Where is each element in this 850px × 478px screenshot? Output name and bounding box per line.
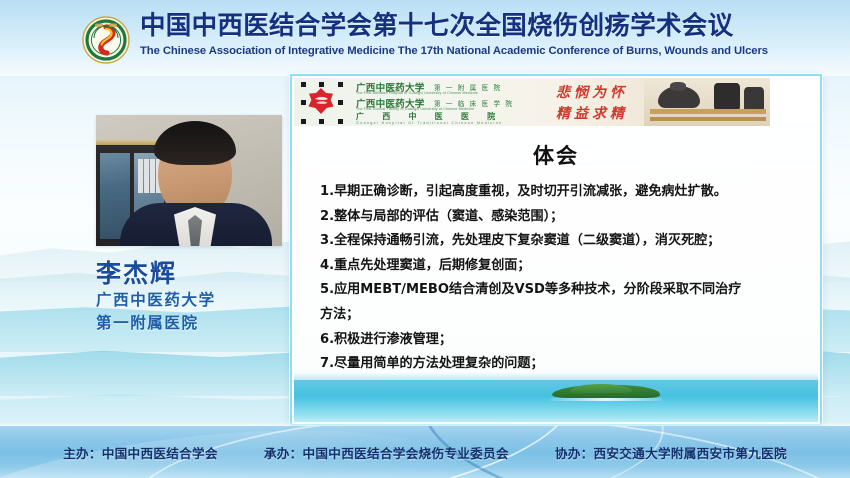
artifact-photo [644,78,770,126]
caim-emblem-icon [82,16,130,64]
speaker-org-line-2: 第一附属医院 [96,312,296,335]
slide-bullet: 6.积极进行渗液管理； [320,328,790,353]
slide-bullet: 2.整体与局部的评估（窦道、感染范围）； [320,205,790,230]
hospital-name-en-1: The First Affiliated Hospital of Guangxi… [356,91,478,95]
selection-handle-mr[interactable] [337,99,344,106]
conference-title-cn: 中国中西医结合学会第十七次全国烧伤创疡学术会议 [140,10,780,42]
calligraphy-line-1: 悲悯为怀 [556,82,628,102]
slide-bullet: 4.重点先处理窦道，后期修复创面； [320,254,790,279]
speaker-video-feed[interactable] [96,115,282,246]
selection-handle-br[interactable] [337,118,344,125]
selection-handle-bl[interactable] [300,118,307,125]
slide-bullet: 1.早期正确诊断，引起高度重视，及时切开引流减张，避免病灶扩散。 [320,180,790,205]
slide-bullet: 5.应用MEBT/MEBO结合清创及VSD等多种技术，分阶段采取不同治疗 [320,278,790,303]
footer-organizer-host: 主办：中国中西医结合学会 [63,443,218,462]
island-shoreline [550,398,662,401]
calligraphy-line-2: 精益求精 [556,103,628,123]
selection-handle-tc[interactable] [318,81,325,88]
video-file-binder [138,159,143,193]
green-island-crest-icon [570,384,632,393]
footer-organizer-coorganizer: 承办：中国中西医结合学会烧伤专业委员会 [264,443,509,462]
video-file-binder [144,159,149,193]
slide-body-list: 1.早期正确诊断，引起高度重视，及时切开引流减张，避免病灶扩散。 2.整体与局部… [320,180,790,401]
video-file-binder [150,159,155,193]
selection-handle-tl[interactable] [300,81,307,88]
speaker-name: 李杰辉 [96,258,296,289]
slide-hospital-banner: 广西中医药大学 第 一 附 属 医 院 The First Affiliated… [294,78,770,126]
conference-title-en: The Chinese Association of Integrative M… [140,44,780,59]
speaker-info-block: 李杰辉 广西中医药大学 第一附属医院 [96,258,296,335]
conference-title-block: 中国中西医结合学会第十七次全国烧伤创疡学术会议 The Chinese Asso… [140,10,780,59]
selection-handle-ml[interactable] [300,99,307,106]
presentation-slide[interactable]: 广西中医药大学 第 一 附 属 医 院 The First Affiliated… [290,74,822,426]
slide-title: 体会 [292,140,820,170]
slide-bullet: 3.全程保持通畅引流，先处理皮下复杂窦道（二级窦道），消灭死腔； [320,229,790,254]
slide-bullet-continuation: 方法； [320,303,790,328]
footer-organizer-supporter: 协办：西安交通大学附属西安市第九医院 [555,443,787,462]
guangxi-hospital-logo-icon [306,87,336,117]
selection-handle-bc[interactable] [318,118,325,125]
footer-bar: 主办：中国中西医结合学会 承办：中国中西医结合学会烧伤专业委员会 协办：西安交通… [0,426,850,478]
hospital-name-en-3: Guangxi Hospital Of Traditional Chinese … [356,121,503,125]
slide-water-band [294,380,818,422]
presentation-stage: 中国中西医结合学会第十七次全国烧伤创疡学术会议 The Chinese Asso… [0,0,850,478]
footer-organizer-row: 主办：中国中西医结合学会 承办：中国中西医结合学会烧伤专业委员会 协办：西安交通… [0,426,850,478]
speaker-org-line-1: 广西中医药大学 [96,289,296,312]
selection-handle-tr[interactable] [337,81,344,88]
slide-water-edge [294,372,818,380]
